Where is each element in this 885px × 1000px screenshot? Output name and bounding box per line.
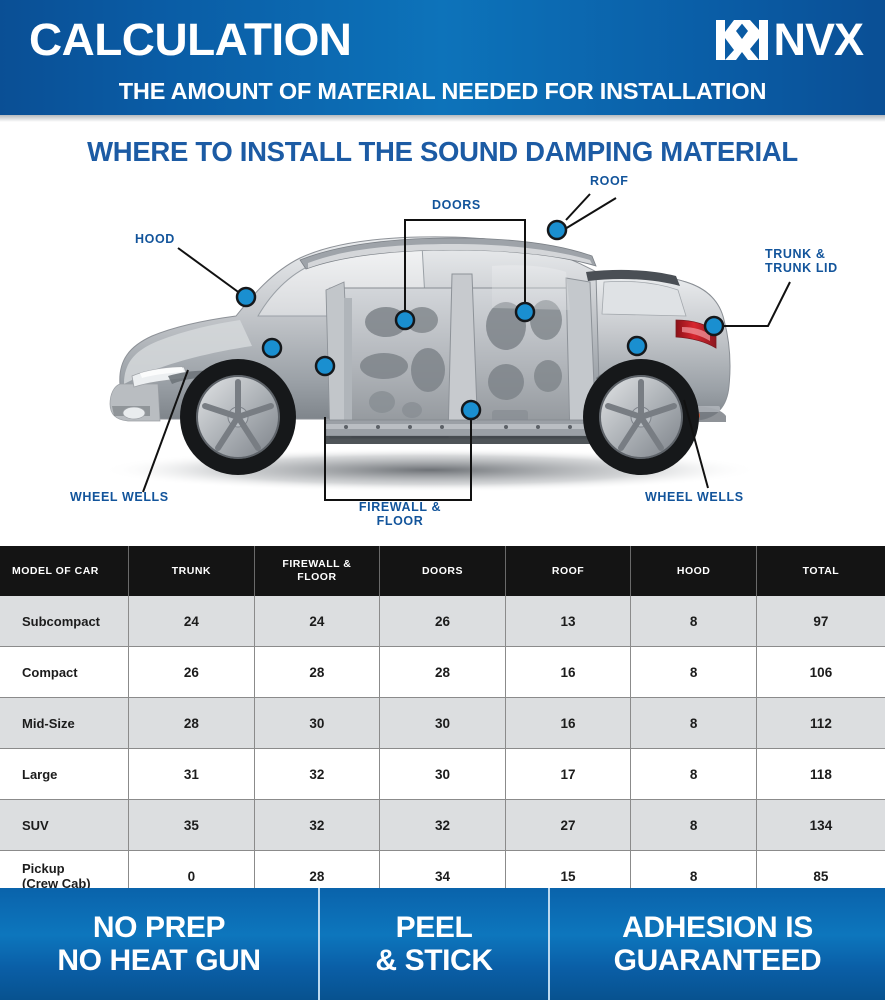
footer-panel-peel-stick: PEEL & STICK: [318, 888, 548, 1000]
table-row: Subcompact 24 24 26 13 8 97: [0, 596, 885, 647]
label-trunk-and-trunk-lid: TRUNK & TRUNK LID: [765, 247, 838, 275]
cell-hood: 8: [631, 596, 757, 647]
label-trunk-line1: TRUNK &: [765, 247, 825, 261]
label-doors: DOORS: [432, 198, 481, 212]
cell-total: 112: [756, 698, 885, 749]
label-wheel-wells-rear: WHEEL WELLS: [645, 490, 744, 504]
table-body: Subcompact 24 24 26 13 8 97 Compact 26 2…: [0, 596, 885, 901]
cell-model: SUV: [0, 800, 129, 851]
cell-hood: 8: [631, 647, 757, 698]
cell-trunk: 26: [129, 647, 255, 698]
footer-panel-no-prep: NO PREP NO HEAT GUN: [0, 888, 318, 1000]
cell-model: Large: [0, 749, 129, 800]
table-row: SUV 35 32 32 27 8 134: [0, 800, 885, 851]
header-shadow: [0, 115, 885, 122]
cell-total: 106: [756, 647, 885, 698]
page-header: CALCULATION NVX THE AMOUNT OF MATERIAL N…: [0, 0, 885, 115]
section-heading: WHERE TO INSTALL THE SOUND DAMPING MATER…: [0, 136, 885, 168]
cell-hood: 8: [631, 698, 757, 749]
brand-logo-text: NVX: [773, 18, 863, 62]
cell-doors: 28: [380, 647, 506, 698]
col-header-model: MODEL OF CAR: [0, 546, 129, 596]
table-row: Mid-Size 28 30 30 16 8 112: [0, 698, 885, 749]
col-header-doors: DOORS: [380, 546, 506, 596]
page-title: CALCULATION: [29, 15, 351, 65]
label-trunk-line2: TRUNK LID: [765, 261, 838, 275]
col-header-firewall-floor: FIREWALL & FLOOR: [254, 546, 380, 596]
cell-firewall-floor: 30: [254, 698, 380, 749]
brand-logo: NVX: [714, 14, 863, 66]
col-header-total: TOTAL: [756, 546, 885, 596]
infographic-page: CALCULATION NVX THE AMOUNT OF MATERIAL N…: [0, 0, 885, 1000]
cell-total: 134: [756, 800, 885, 851]
material-table: MODEL OF CAR TRUNK FIREWALL & FLOOR DOOR…: [0, 546, 885, 901]
cell-model: Subcompact: [0, 596, 129, 647]
table-header: MODEL OF CAR TRUNK FIREWALL & FLOOR DOOR…: [0, 546, 885, 596]
label-firewall-line2: FLOOR: [377, 514, 424, 528]
cell-firewall-floor: 24: [254, 596, 380, 647]
footer-panel-adhesion: ADHESION IS GUARANTEED: [548, 888, 885, 1000]
cell-total: 97: [756, 596, 885, 647]
label-wheel-wells-front: WHEEL WELLS: [70, 490, 169, 504]
footer-text-adhesion: ADHESION IS GUARANTEED: [614, 911, 822, 977]
cell-doors: 26: [380, 596, 506, 647]
footer-banner: NO PREP NO HEAT GUN PEEL & STICK ADHESIO…: [0, 888, 885, 1000]
cell-trunk: 24: [129, 596, 255, 647]
xnvx-logo-mark-icon: [714, 18, 772, 62]
col-header-hood: HOOD: [631, 546, 757, 596]
cell-trunk: 31: [129, 749, 255, 800]
footer-text-no-prep: NO PREP NO HEAT GUN: [57, 911, 260, 977]
cell-doors: 30: [380, 698, 506, 749]
cell-hood: 8: [631, 749, 757, 800]
cell-roof: 16: [505, 698, 631, 749]
col-header-trunk: TRUNK: [129, 546, 255, 596]
cell-firewall-floor: 32: [254, 749, 380, 800]
label-hood: HOOD: [135, 232, 175, 246]
car-illustration: [0, 170, 885, 542]
header-subtitle: THE AMOUNT OF MATERIAL NEEDED FOR INSTAL…: [0, 78, 885, 105]
car-diagram: HOOD DOORS ROOF TRUNK & TRUNK LID WHEEL …: [0, 170, 885, 542]
cell-roof: 17: [505, 749, 631, 800]
label-firewall-line1: FIREWALL &: [359, 500, 441, 514]
cell-firewall-floor: 32: [254, 800, 380, 851]
cell-roof: 16: [505, 647, 631, 698]
label-roof: ROOF: [590, 174, 629, 188]
table-row: Compact 26 28 28 16 8 106: [0, 647, 885, 698]
header-top-row: CALCULATION NVX: [0, 17, 885, 67]
col-header-roof: ROOF: [505, 546, 631, 596]
cell-roof: 27: [505, 800, 631, 851]
cell-trunk: 28: [129, 698, 255, 749]
cell-trunk: 35: [129, 800, 255, 851]
cell-hood: 8: [631, 800, 757, 851]
cell-firewall-floor: 28: [254, 647, 380, 698]
cell-total: 118: [756, 749, 885, 800]
cell-roof: 13: [505, 596, 631, 647]
cell-doors: 32: [380, 800, 506, 851]
cell-doors: 30: [380, 749, 506, 800]
cell-model: Compact: [0, 647, 129, 698]
footer-text-peel-stick: PEEL & STICK: [375, 911, 492, 977]
table-row: Large 31 32 30 17 8 118: [0, 749, 885, 800]
cell-model: Mid-Size: [0, 698, 129, 749]
table-header-row: MODEL OF CAR TRUNK FIREWALL & FLOOR DOOR…: [0, 546, 885, 596]
label-firewall-and-floor: FIREWALL & FLOOR: [325, 500, 475, 528]
